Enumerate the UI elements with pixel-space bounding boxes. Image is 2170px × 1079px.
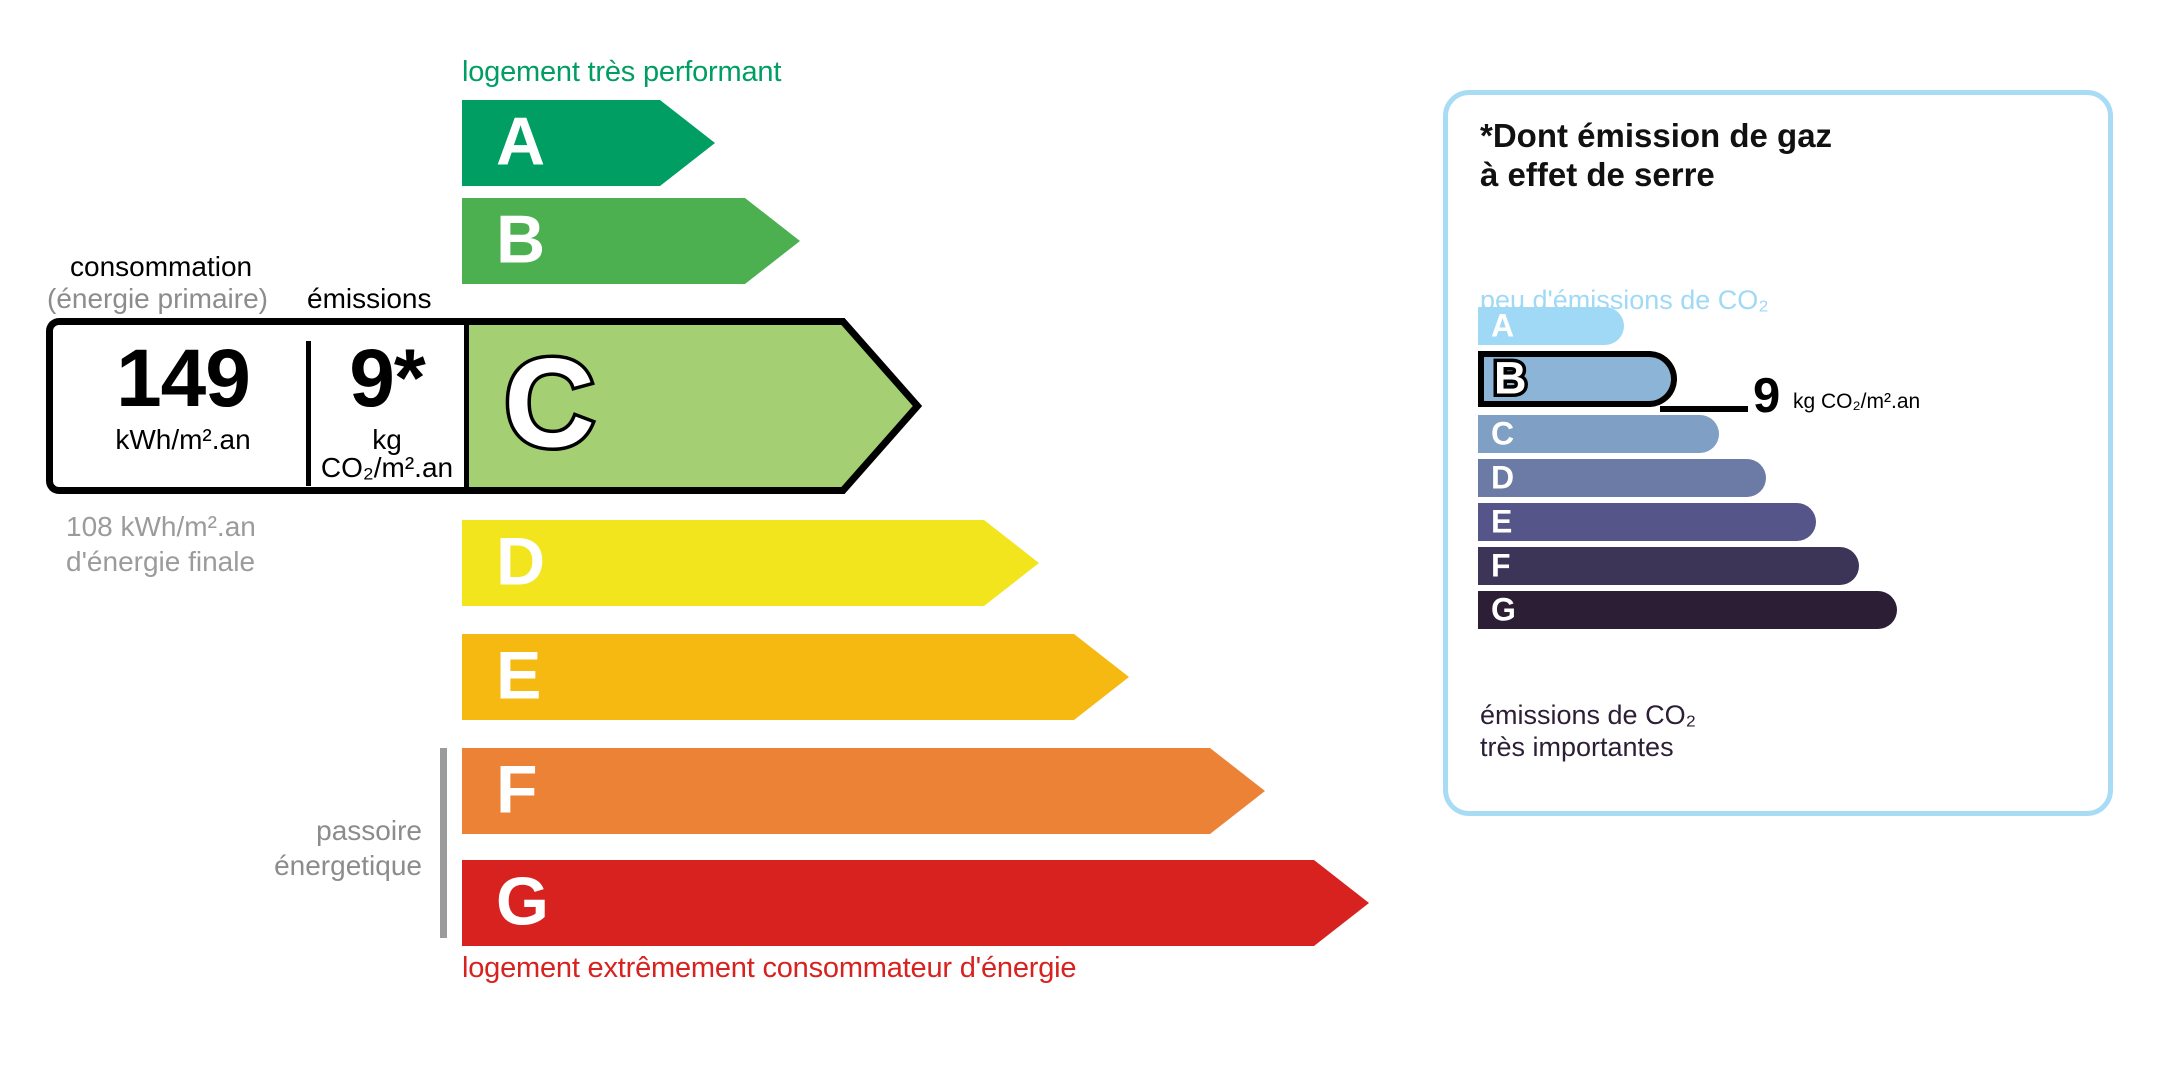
co2-title-line1: *Dont émission de gaz xyxy=(1480,117,1832,156)
energy-band-letter-c: C xyxy=(504,340,595,466)
consumption-value: 149 xyxy=(63,335,303,424)
co2-band-g: G xyxy=(1478,591,1897,629)
co2-band-letter-c: C xyxy=(1491,417,1514,449)
energy-band-d: D xyxy=(462,520,1039,606)
consumption-unit: kWh/m².an xyxy=(63,426,303,454)
consumption-value-cell: 149 kWh/m².an xyxy=(63,335,303,454)
co2-bar-shape-c xyxy=(1478,415,1719,453)
co2-leader-line xyxy=(1660,406,1748,412)
energy-band-letter-b: B xyxy=(496,206,545,274)
energy-band-b: B xyxy=(462,198,800,284)
energy-band-a: A xyxy=(462,100,715,186)
co2-emissions-panel: *Dont émission de gaz à effet de serre p… xyxy=(1443,90,2113,816)
energy-top-caption: logement très performant xyxy=(462,56,781,89)
co2-bar-shape-g xyxy=(1478,591,1897,629)
dpe-label: logement très performant ABCDEFG consomm… xyxy=(0,0,2170,1079)
co2-bar-left-edge xyxy=(1478,351,1484,407)
energy-bottom-caption: logement extrêmement consommateur d'éner… xyxy=(462,952,1076,985)
co2-band-e: E xyxy=(1478,503,1816,541)
co2-band-letter-d: D xyxy=(1491,461,1514,493)
energy-band-shape-g xyxy=(462,860,1369,946)
emissions-value-cell: 9* kg CO₂/m².an xyxy=(311,335,463,482)
co2-band-letter-b: B xyxy=(1494,356,1527,401)
co2-value-unit: kg CO₂/m².an xyxy=(1793,390,1920,414)
final-energy-note: 108 kWh/m².an d'énergie finale xyxy=(66,509,256,579)
co2-band-letter-g: G xyxy=(1491,593,1516,625)
energy-band-shape-e xyxy=(462,634,1129,720)
co2-bar-shape-d xyxy=(1478,459,1766,497)
passoire-bracket xyxy=(440,748,447,938)
energy-performance-panel: logement très performant ABCDEFG consomm… xyxy=(0,0,1400,1079)
passoire-line1: passoire xyxy=(170,813,422,848)
co2-band-letter-a: A xyxy=(1491,309,1514,341)
energy-band-e: E xyxy=(462,634,1129,720)
current-rating-value-box: 149 kWh/m².an 9* kg CO₂/m².an xyxy=(46,318,464,494)
energy-band-shape-d xyxy=(462,520,1039,606)
energy-band-letter-d: D xyxy=(496,528,545,596)
final-energy-line1: 108 kWh/m².an xyxy=(66,509,256,544)
passoire-label: passoire énergetique xyxy=(170,813,422,883)
co2-bottom-line2: très importantes xyxy=(1480,731,1696,763)
co2-band-d: D xyxy=(1478,459,1766,497)
final-energy-line2: d'énergie finale xyxy=(66,544,256,579)
energy-band-shape-f xyxy=(462,748,1265,834)
co2-band-c: C xyxy=(1478,415,1719,453)
co2-band-a: A xyxy=(1478,307,1624,345)
energy-band-letter-f: F xyxy=(496,756,538,824)
energy-band-letter-a: A xyxy=(496,108,545,176)
co2-band-letter-f: F xyxy=(1491,549,1511,581)
emissions-value: 9* xyxy=(311,335,463,424)
co2-value: 9 xyxy=(1753,372,1780,421)
co2-band-b: B xyxy=(1478,351,1677,407)
emissions-label: émissions xyxy=(307,283,431,315)
co2-bottom-line1: émissions de CO₂ xyxy=(1480,699,1696,731)
co2-bar-shape-f xyxy=(1478,547,1859,585)
co2-title-line2: à effet de serre xyxy=(1480,156,1832,195)
co2-panel-title: *Dont émission de gaz à effet de serre xyxy=(1480,117,1832,195)
energy-band-g: G xyxy=(462,860,1369,946)
passoire-line2: énergetique xyxy=(170,848,422,883)
co2-bar-shape-e xyxy=(1478,503,1816,541)
co2-band-letter-e: E xyxy=(1491,505,1512,537)
energy-band-letter-e: E xyxy=(496,642,541,710)
co2-bottom-caption: émissions de CO₂ très importantes xyxy=(1480,699,1696,764)
energy-band-f: F xyxy=(462,748,1265,834)
energy-band-c: C xyxy=(462,318,921,494)
co2-band-f: F xyxy=(1478,547,1859,585)
consumption-label-line1: consommation xyxy=(70,251,252,283)
consumption-label-line2: (énergie primaire) xyxy=(47,283,268,315)
emissions-unit: kg CO₂/m².an xyxy=(311,426,463,482)
energy-band-letter-g: G xyxy=(496,868,549,936)
